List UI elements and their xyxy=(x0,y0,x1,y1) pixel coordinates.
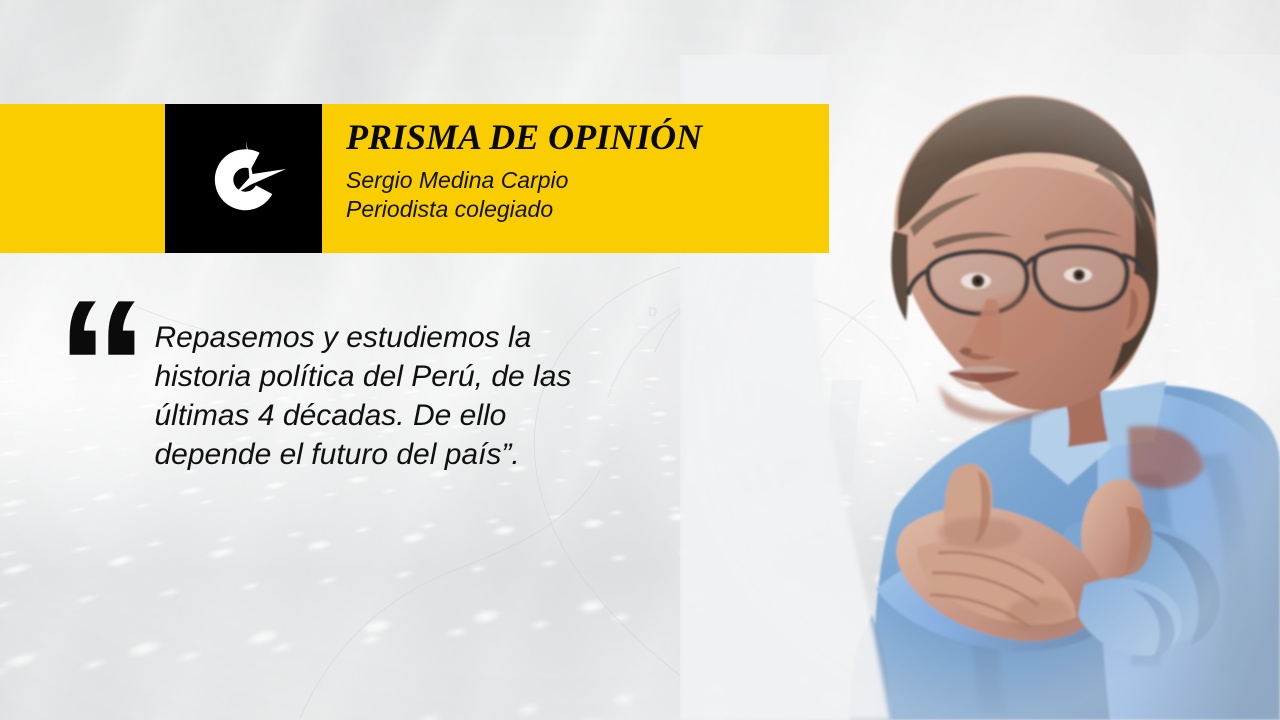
arrow-circle-logo-icon xyxy=(190,125,298,233)
banner-left-spacer xyxy=(0,104,165,253)
banner-text-group: PRISMA DE OPINIÓN Sergio Medina Carpio P… xyxy=(322,104,829,253)
quote-text: Repasemos y estudiemos la historia polít… xyxy=(155,318,627,474)
author-name: Sergio Medina Carpio xyxy=(346,166,829,195)
quote-mark-icon: “ xyxy=(56,317,141,417)
slide-canvas: D I A R I O xyxy=(0,0,1280,720)
header-banner: PRISMA DE OPINIÓN Sergio Medina Carpio P… xyxy=(0,104,829,253)
pull-quote: “ Repasemos y estudiemos la historia pol… xyxy=(56,306,696,474)
banner-title: PRISMA DE OPINIÓN xyxy=(346,117,829,157)
logo-container xyxy=(165,104,322,253)
author-role: Periodista colegiado xyxy=(346,195,829,224)
